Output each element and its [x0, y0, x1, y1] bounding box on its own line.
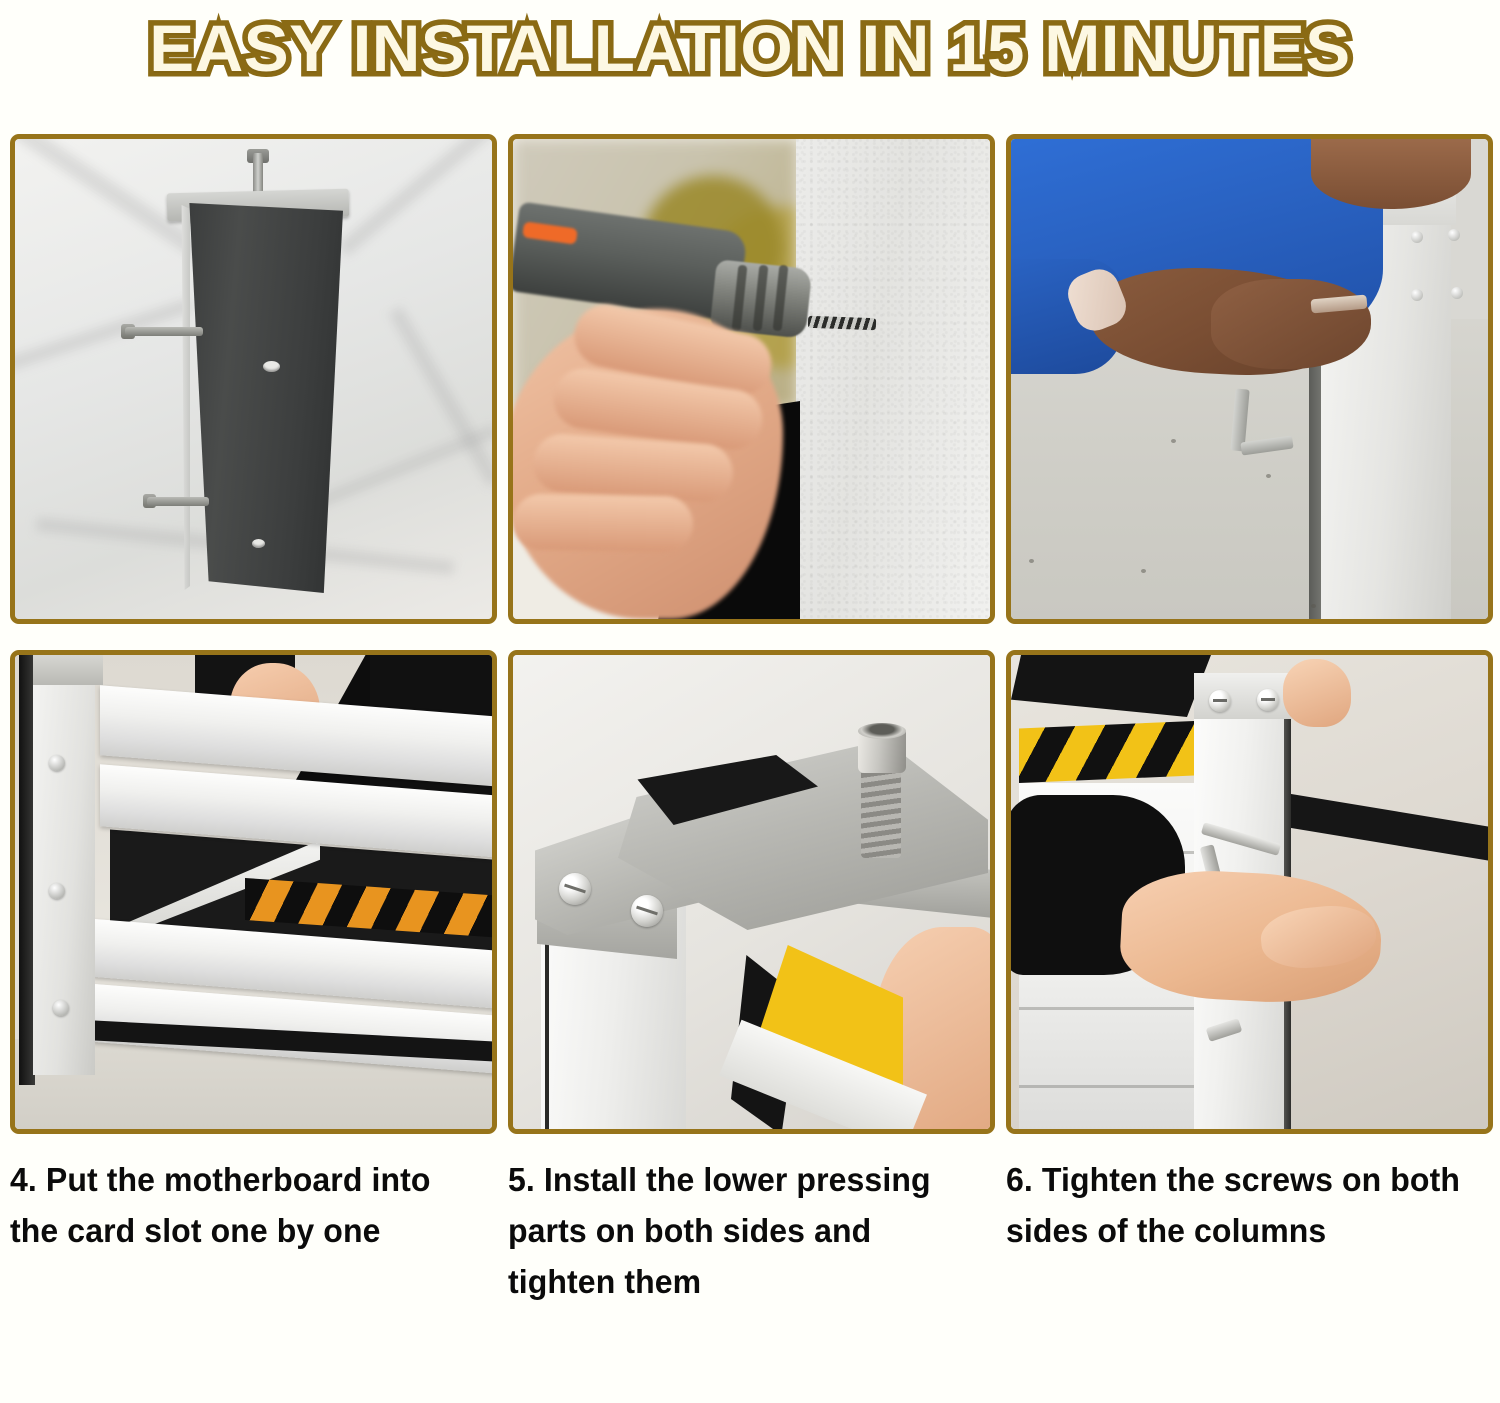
step-3: 3. Insert the expansion screw into the h…	[1006, 134, 1493, 650]
step-3-photo	[1011, 139, 1488, 619]
hazard-tape	[1019, 721, 1194, 783]
step-6-photo-frame	[1006, 650, 1493, 1134]
step-2: 2. Use an electric hammer to drill holes…	[508, 134, 995, 650]
step-5-caption: 5. Install the lower pressing parts on b…	[508, 1154, 980, 1307]
page-title: EASY INSTALLATION IN 15 MINUTES	[149, 10, 1351, 86]
step-4-caption: 4. Put the motherboard into the card slo…	[10, 1154, 482, 1256]
step-6: 6. Tighten the screws on both sides of t…	[1006, 650, 1493, 1266]
step-5-photo	[513, 655, 990, 1129]
screw-icon	[1257, 689, 1279, 711]
step-1: 1. Mark the punching position	[10, 134, 497, 650]
title-banner: EASY INSTALLATION IN 15 MINUTES	[0, 0, 1500, 96]
screw-icon	[1209, 690, 1231, 712]
step-1-photo	[15, 139, 492, 619]
installation-guide-page: EASY INSTALLATION IN 15 MINUTES	[0, 0, 1500, 1403]
steps-grid: 1. Mark the punching position	[10, 134, 1494, 1396]
mounting-plate	[183, 203, 343, 593]
step-5-photo-frame	[508, 650, 995, 1134]
step-6-photo	[1011, 655, 1488, 1129]
wall-surface	[796, 139, 990, 619]
step-3-photo-frame	[1006, 134, 1493, 624]
drill-bit-icon	[808, 316, 876, 330]
step-6-caption: 6. Tighten the screws on both sides of t…	[1006, 1154, 1478, 1256]
step-4: 4. Put the motherboard into the card slo…	[10, 650, 497, 1266]
step-5: 5. Install the lower pressing parts on b…	[508, 650, 995, 1266]
step-1-photo-frame	[10, 134, 497, 624]
step-4-photo-frame	[10, 650, 497, 1134]
step-4-photo	[15, 655, 492, 1129]
step-2-photo	[513, 139, 990, 619]
step-2-photo-frame	[508, 134, 995, 624]
